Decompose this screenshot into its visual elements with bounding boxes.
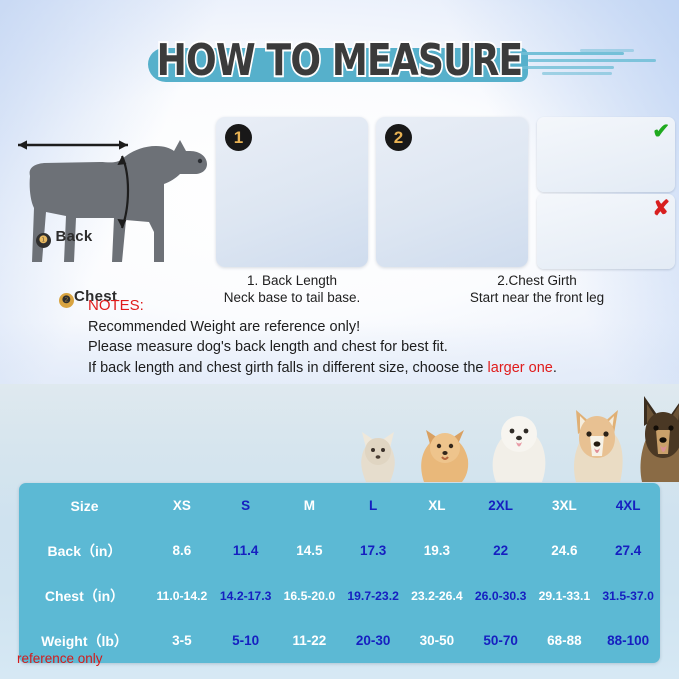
back-2xl: 22 <box>469 543 533 558</box>
weight-l: 20-30 <box>341 633 405 648</box>
weight-xl: 30-50 <box>405 633 469 648</box>
incorrect-example-photo: ✘ <box>537 194 675 269</box>
row-label-weight: Weight（lb） <box>19 631 150 651</box>
size-s: S <box>214 498 278 513</box>
notes-heading: NOTES: <box>88 296 648 317</box>
caption2-line1: 2.Chest Girth <box>437 272 637 289</box>
pomeranian-photo <box>414 414 476 486</box>
chest-3xl: 29.1-33.1 <box>533 589 597 603</box>
caption1-line1: 1. Back Length <box>192 272 392 289</box>
german-shepherd-photo <box>634 390 679 486</box>
weight-s: 5-10 <box>214 633 278 648</box>
notes-line-1: Recommended Weight are reference only! <box>88 317 648 338</box>
dog-breeds-row <box>352 388 679 486</box>
back-s: 11.4 <box>214 543 278 558</box>
chest-4xl: 31.5-37.0 <box>596 589 660 603</box>
size-2xl: 2XL <box>469 498 533 513</box>
chest-m: 16.5-20.0 <box>278 589 342 603</box>
back-m: 14.5 <box>278 543 342 558</box>
size-m: M <box>278 498 342 513</box>
corgi-photo <box>564 400 630 486</box>
weight-m: 11-22 <box>278 633 342 648</box>
page-title: HOW TO MEASURE <box>61 30 618 92</box>
size-chart-table: Size XS S M L XL 2XL 3XL 4XL Back（in） 8.… <box>19 483 660 663</box>
back-3xl: 24.6 <box>533 543 597 558</box>
back-badge-icon: ❶ <box>36 233 51 248</box>
size-xs: XS <box>150 498 214 513</box>
notes-line-3: If back length and chest girth falls in … <box>88 358 648 379</box>
photo-badge-1: 1 <box>225 124 252 151</box>
notes-line-2: Please measure dog's back length and che… <box>88 337 648 358</box>
dog-silhouette-diagram: ❶ Back ❷Chest <box>4 112 216 270</box>
back-length-photo: 1 <box>216 117 368 267</box>
correct-check-icon: ✔ <box>652 119 670 144</box>
chest-xl: 23.2-26.4 <box>405 589 469 603</box>
chihuahua-photo <box>352 420 404 486</box>
incorrect-x-icon: ✘ <box>652 196 670 221</box>
title-area: HOW TO MEASURE <box>0 30 679 98</box>
size-4xl: 4XL <box>596 498 660 513</box>
weight-2xl: 50-70 <box>469 633 533 648</box>
size-3xl: 3XL <box>533 498 597 513</box>
chest-xs: 11.0-14.2 <box>150 589 214 603</box>
table-header-row: Size XS S M L XL 2XL 3XL 4XL <box>19 483 660 528</box>
notes-line3-emphasis: larger one <box>488 360 553 376</box>
table-row-chest: Chest（in） 11.0-14.2 14.2-17.3 16.5-20.0 … <box>19 573 660 618</box>
upper-panel: HOW TO MEASURE ❶ Back ❷Chest <box>0 0 679 384</box>
back-measure-label: ❶ Back <box>36 228 93 248</box>
notes-line3-post: . <box>553 360 557 376</box>
size-xl: XL <box>405 498 469 513</box>
row-label-size: Size <box>19 498 150 514</box>
back-4xl: 27.4 <box>596 543 660 558</box>
back-xl: 19.3 <box>405 543 469 558</box>
weight-3xl: 68-88 <box>533 633 597 648</box>
weight-4xl: 88-100 <box>596 633 660 648</box>
row-label-chest: Chest（in） <box>19 586 150 606</box>
chest-l: 19.7-23.2 <box>341 589 405 603</box>
chest-girth-photo: 2 <box>376 117 528 267</box>
notes-line3-pre: If back length and chest girth falls in … <box>88 360 488 376</box>
correct-example-photo: ✔ <box>537 117 675 192</box>
row-label-back: Back（in） <box>19 541 150 561</box>
table-row-weight: Weight（lb） 3-5 5-10 11-22 20-30 30-50 50… <box>19 618 660 663</box>
weight-xs: 3-5 <box>150 633 214 648</box>
table-row-back: Back（in） 8.6 11.4 14.5 17.3 19.3 22 24.6… <box>19 528 660 573</box>
size-l: L <box>341 498 405 513</box>
chest-s: 14.2-17.3 <box>214 589 278 603</box>
notes-block: NOTES: Recommended Weight are reference … <box>88 296 648 378</box>
chest-2xl: 26.0-30.3 <box>469 589 533 603</box>
back-label-text: Back <box>55 228 92 245</box>
reference-only-footnote: reference only <box>17 651 103 666</box>
bichon-photo <box>484 404 554 486</box>
back-xs: 8.6 <box>150 543 214 558</box>
photo-badge-2: 2 <box>385 124 412 151</box>
back-l: 17.3 <box>341 543 405 558</box>
chest-badge-icon: ❷ <box>59 293 74 308</box>
